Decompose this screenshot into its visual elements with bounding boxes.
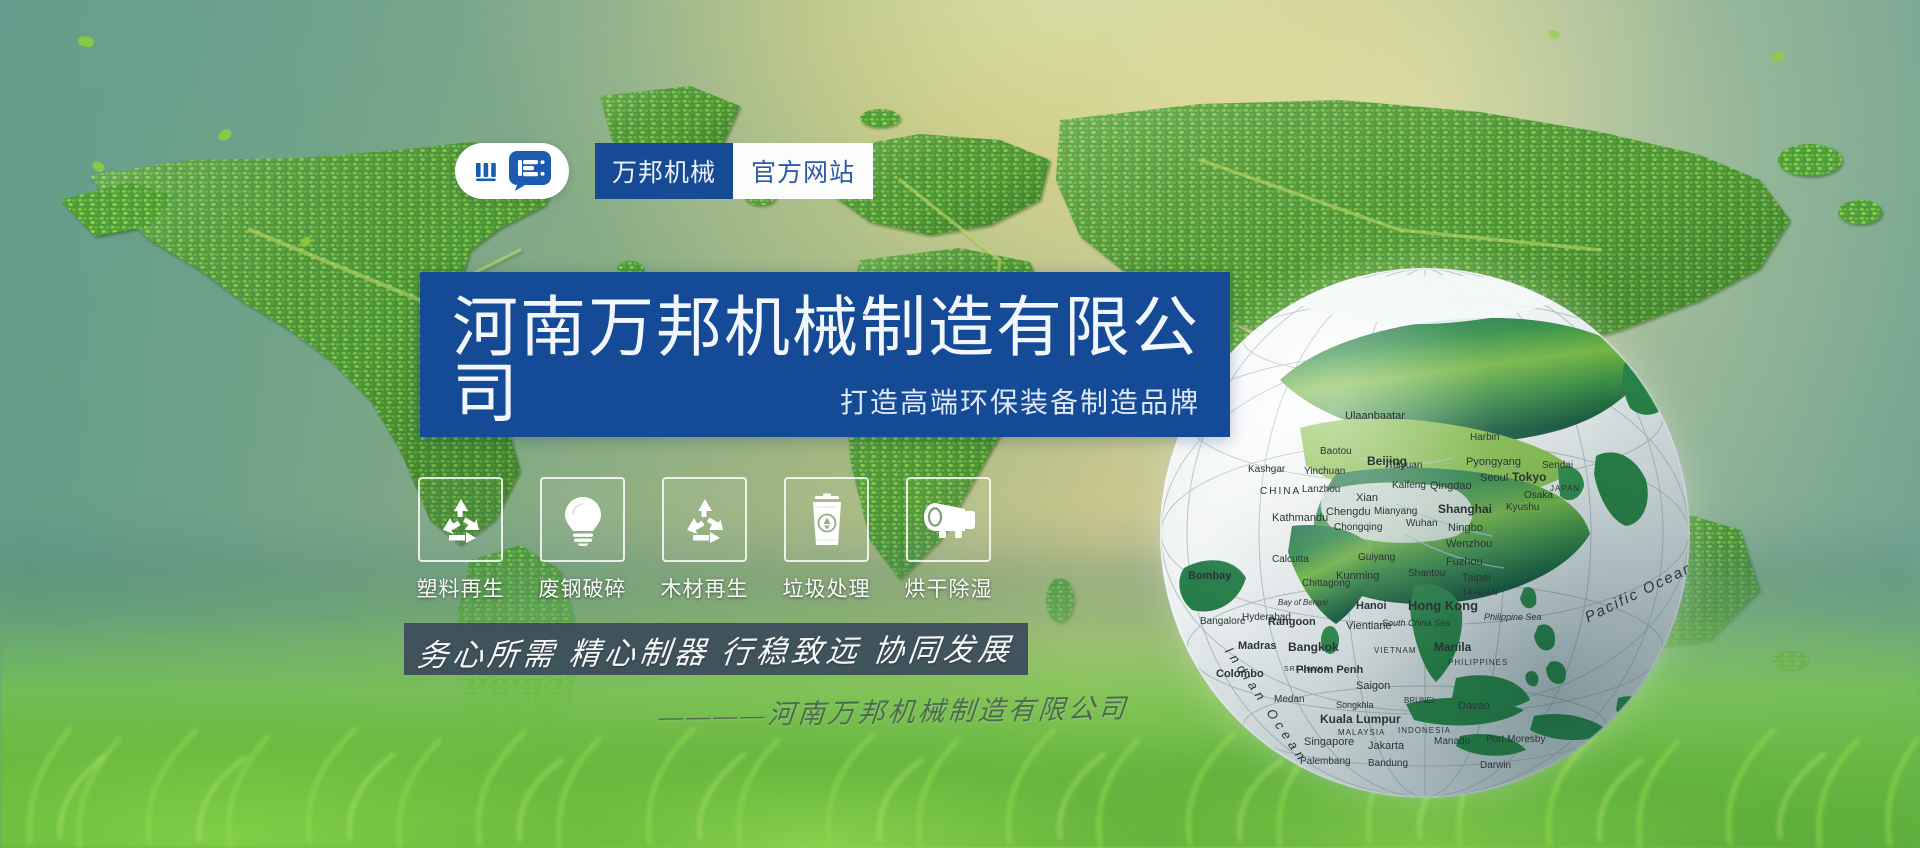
feature-icon-row: 塑料再生 废钢破碎 — [418, 477, 991, 603]
feature-wood-recycling[interactable]: 木材再生 — [662, 477, 747, 603]
tab-wanbang-machinery-label: 万邦机械 — [612, 153, 716, 189]
feature-wood-recycling-label: 木材再生 — [661, 573, 749, 603]
wb-chat-logo-icon[interactable] — [455, 143, 569, 199]
logo-tab-spacer — [569, 143, 595, 199]
feature-plastic-recycling[interactable]: 塑料再生 — [418, 477, 503, 603]
slogan-text: 务心所需 精心制器 行稳致远 协同发展 — [415, 623, 1016, 674]
feature-plastic-recycling-box[interactable] — [418, 477, 503, 562]
tab-official-website[interactable]: 官方网站 — [733, 143, 873, 199]
header-logo-row: 万邦机械 官方网站 — [455, 143, 873, 199]
feature-scrap-steel-shredding-box[interactable] — [540, 477, 625, 562]
feature-waste-treatment[interactable]: 垃圾处理 — [784, 477, 869, 603]
hero-title-box: 河南万邦机械制造有限公司 打造高端环保装备制造品牌 — [420, 272, 1230, 437]
hero-banner: Ulaanbaatar Beijing Baotou Yinchuan CHIN… — [0, 0, 1920, 848]
logo-w-glyph — [473, 156, 503, 186]
feature-wood-recycling-box[interactable] — [662, 477, 747, 562]
globe: Ulaanbaatar Beijing Baotou Yinchuan CHIN… — [1160, 268, 1690, 798]
feature-plastic-recycling-label: 塑料再生 — [417, 573, 505, 603]
globe-sphere: Ulaanbaatar Beijing Baotou Yinchuan CHIN… — [1160, 268, 1690, 798]
trash-bin-icon — [806, 493, 848, 547]
logo-b-bubble-glyph — [508, 150, 552, 192]
feature-scrap-steel-shredding-label: 废钢破碎 — [539, 573, 627, 603]
feature-scrap-steel-shredding[interactable]: 废钢破碎 — [540, 477, 625, 603]
tab-official-website-label: 官方网站 — [751, 153, 855, 189]
feature-drying-dehumidifying-label: 烘干除湿 — [905, 573, 993, 603]
slogan-bar: 务心所需 精心制器 行稳致远 协同发展 — [404, 623, 1028, 675]
feature-waste-treatment-label: 垃圾处理 — [783, 573, 871, 603]
recycle-icon — [679, 494, 731, 546]
feature-drying-dehumidifying[interactable]: 烘干除湿 — [906, 477, 991, 603]
bulb-icon — [559, 494, 607, 546]
tab-wanbang-machinery[interactable]: 万邦机械 — [595, 143, 733, 199]
feature-drying-dehumidifying-box[interactable] — [906, 477, 991, 562]
recycle-icon — [435, 494, 487, 546]
feature-waste-treatment-box[interactable] — [784, 477, 869, 562]
blower-dryer-icon — [921, 500, 977, 540]
page-subtitle: 打造高端环保装备制造品牌 — [840, 381, 1200, 421]
